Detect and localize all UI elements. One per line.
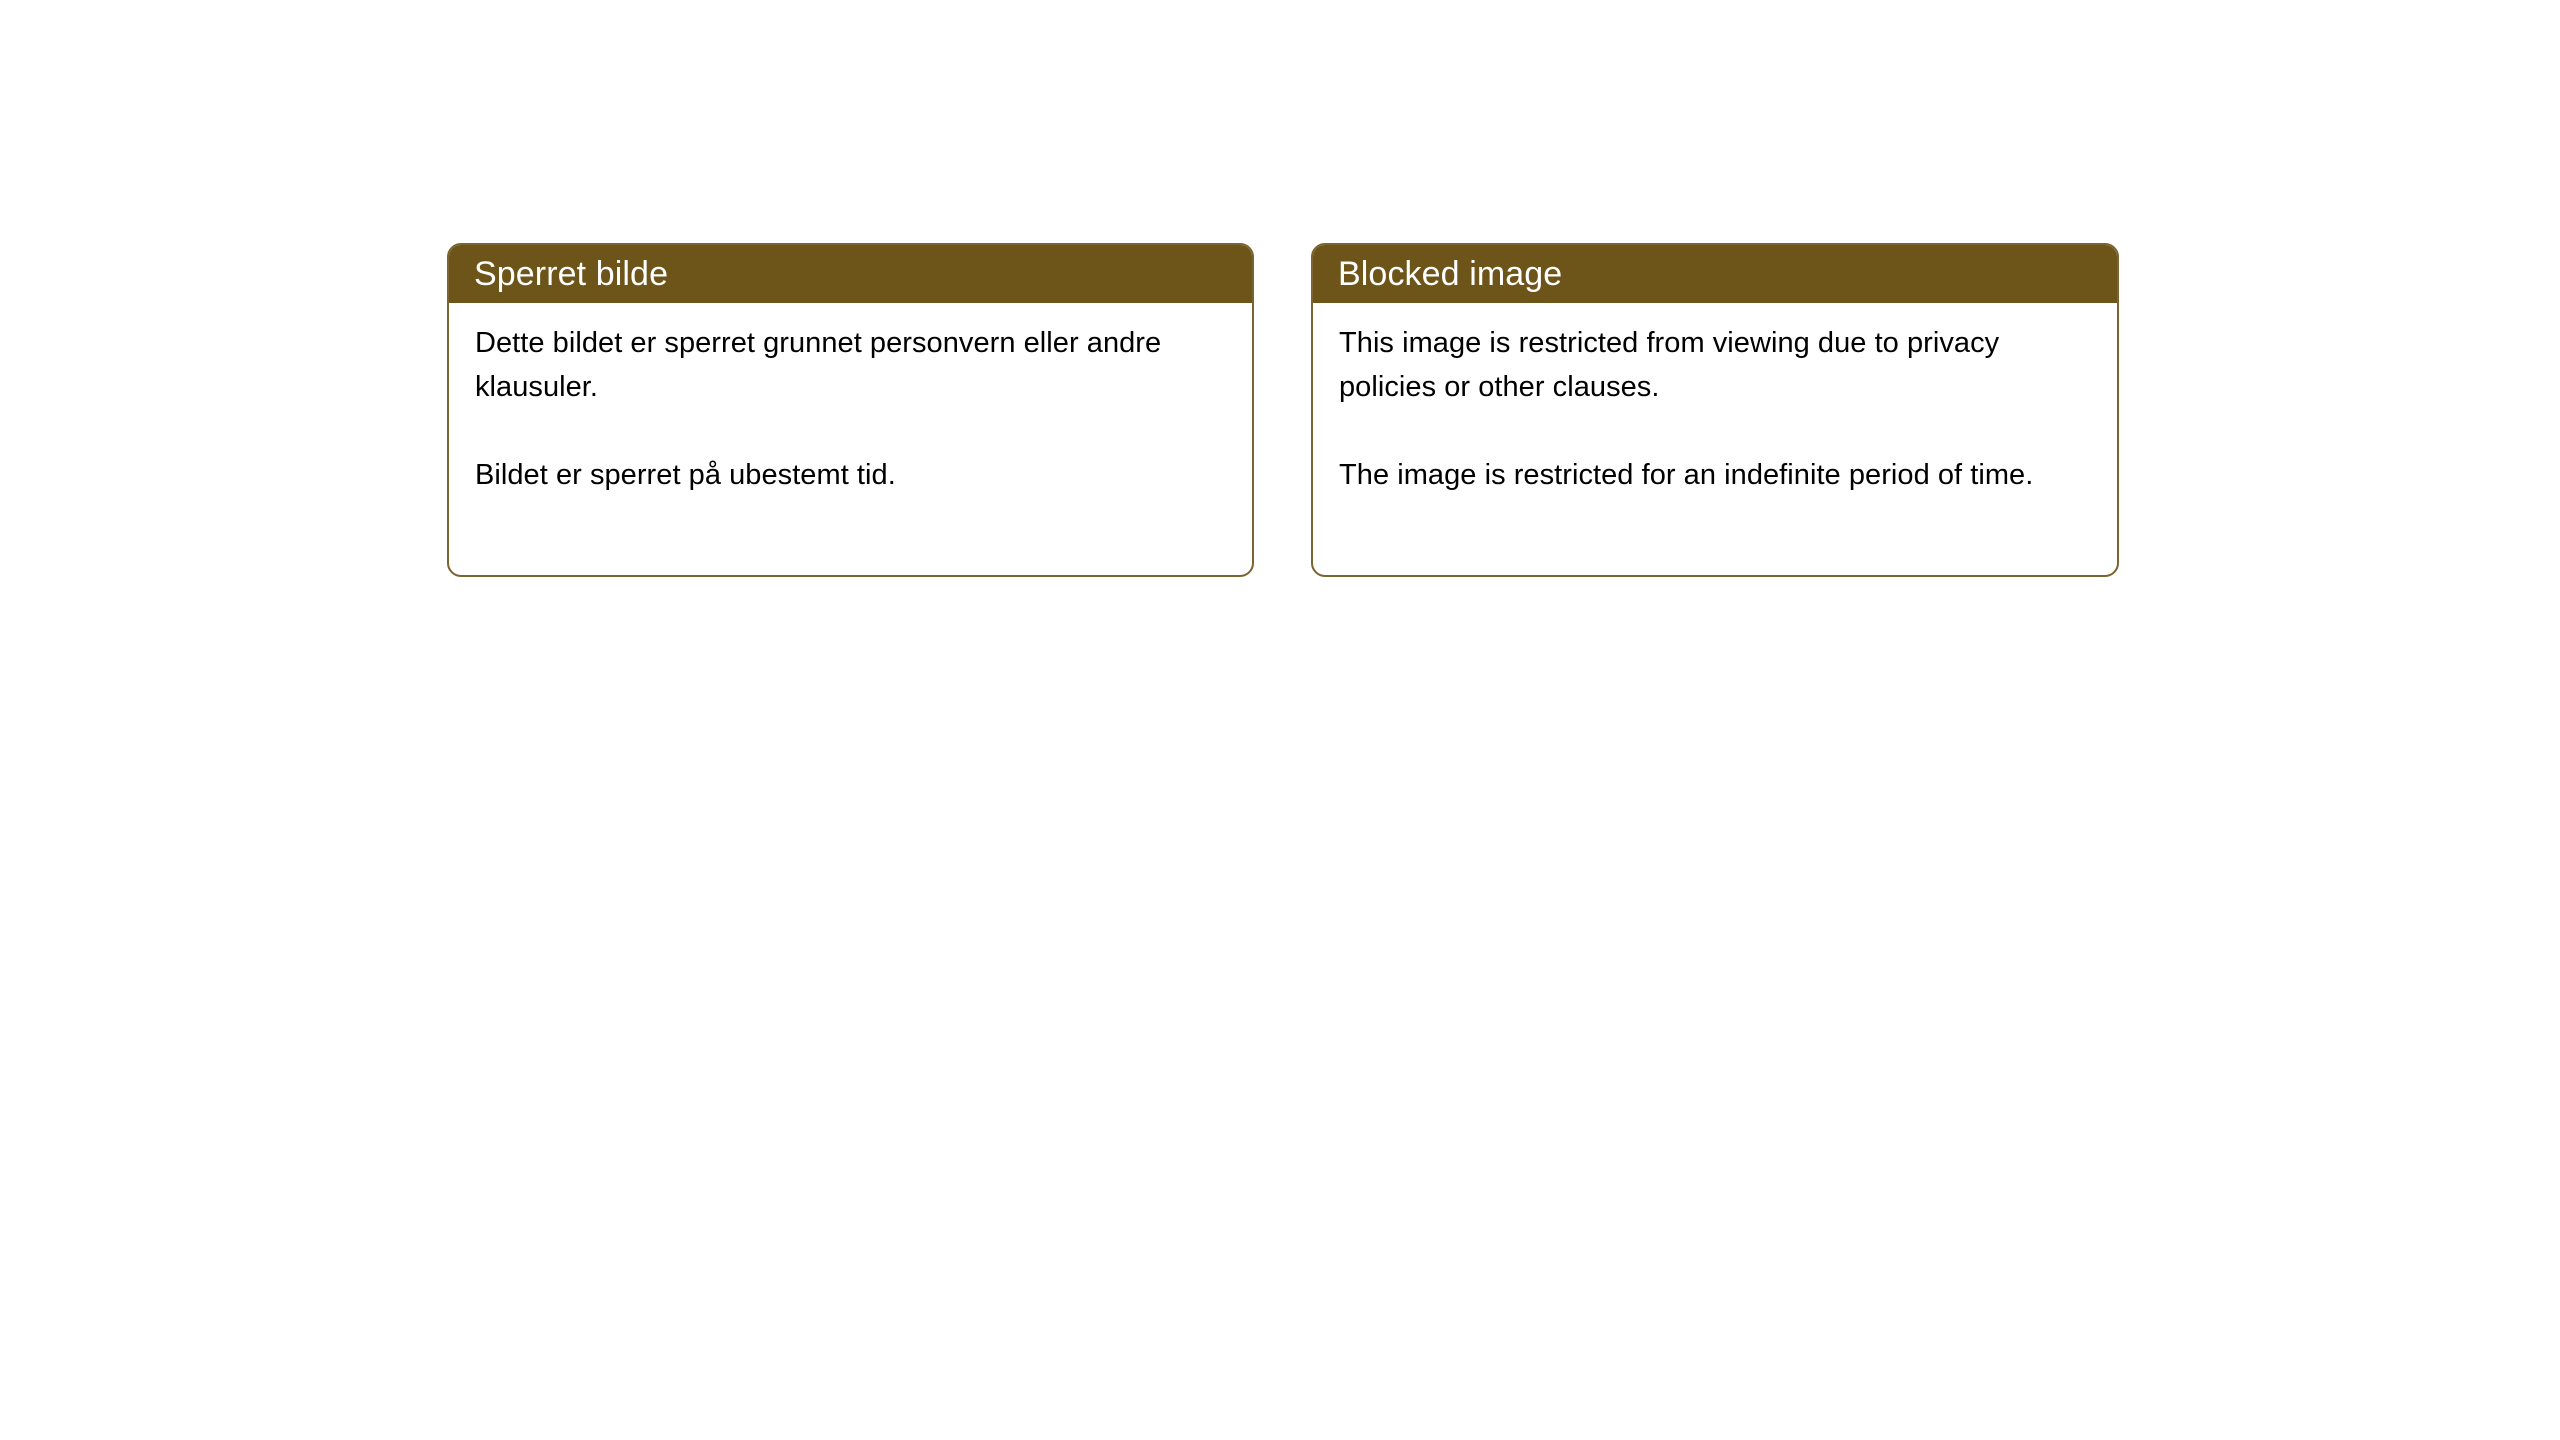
card-title-norwegian: Sperret bilde xyxy=(474,257,668,291)
card-header-english: Blocked image xyxy=(1313,245,2117,303)
card-paragraph-primary-norwegian: Dette bildet er sperret grunnet personve… xyxy=(475,321,1226,409)
paragraph-spacer xyxy=(1339,409,2091,453)
card-title-english: Blocked image xyxy=(1338,257,1562,291)
blocked-image-card-norwegian: Sperret bilde Dette bildet er sperret gr… xyxy=(447,243,1254,577)
card-body-norwegian: Dette bildet er sperret grunnet personve… xyxy=(449,303,1252,497)
card-paragraph-primary-english: This image is restricted from viewing du… xyxy=(1339,321,2091,409)
notice-stage: Sperret bilde Dette bildet er sperret gr… xyxy=(0,0,2560,1440)
card-body-english: This image is restricted from viewing du… xyxy=(1313,303,2117,497)
blocked-image-card-english: Blocked image This image is restricted f… xyxy=(1311,243,2119,577)
card-paragraph-secondary-english: The image is restricted for an indefinit… xyxy=(1339,453,2091,497)
paragraph-spacer xyxy=(475,409,1226,453)
card-header-norwegian: Sperret bilde xyxy=(449,245,1252,303)
card-paragraph-secondary-norwegian: Bildet er sperret på ubestemt tid. xyxy=(475,453,1226,497)
